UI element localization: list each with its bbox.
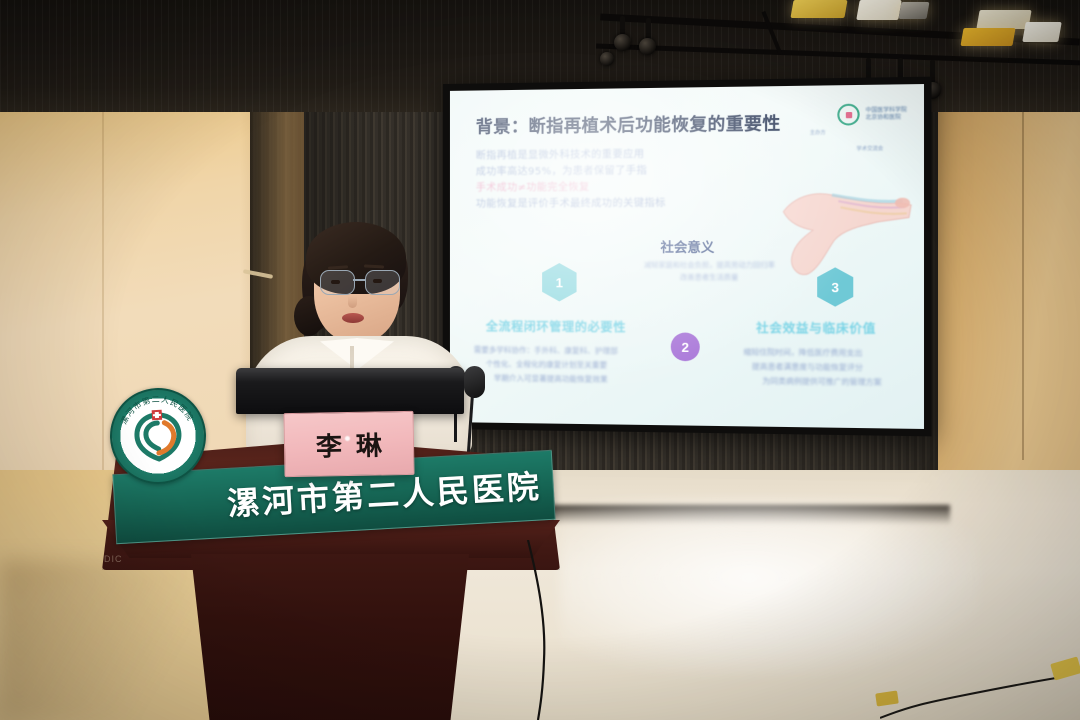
ceiling-panel-light-2 [856, 0, 902, 20]
ceiling-panel-light-5 [960, 28, 1015, 46]
list-item: 缩短住院时间，降低医疗费用支出 [744, 345, 918, 361]
slide-badge-1: 1 [542, 263, 576, 301]
projection-screen: 背景：断指再植术后功能恢复的重要性 断指再植是显微外科技术的重要应用 成功率高达… [450, 84, 924, 429]
slide-logo-icon [838, 104, 860, 126]
slide-left-column-heading: 全流程闭环管理的必要性 [486, 317, 626, 335]
badge-number: 2 [682, 339, 689, 354]
hand-diagram-svg [777, 153, 917, 278]
floor-cable [880, 650, 1080, 720]
ceiling-panel-light-3 [899, 2, 930, 19]
badge-number: 1 [556, 275, 563, 290]
ceiling-panel-light-4 [976, 10, 1031, 29]
hospital-logo: 漯河市第二人民医院 LUOHE SECOND PEOPLE'S HOSPITAL [108, 386, 209, 487]
podium: 漯河市第二人民医院 漯河市第二人民医院 LUOHE SECOND PEOPLE'… [96, 404, 566, 720]
projection-screen-frame: 背景：断指再植术后功能恢复的重要性 断指再植是显微外科技术的重要应用 成功率高达… [443, 77, 932, 437]
slide-section-heading: 社会意义 [660, 237, 714, 256]
list-item: 为同类病例提供可推广的管理方案 [744, 374, 918, 390]
slide-right-column-list: 缩短住院时间，降低医疗费用支出 提高患者满意度与功能恢复评分 为同类病例提供可推… [744, 345, 918, 390]
ceiling-spotlight-6 [600, 52, 614, 66]
name-card-name: 李琳 [302, 425, 397, 464]
slide-left-column-list: 需要多学科协作：手外科、康复科、护理部 个性化、全程化的康复计划至关重要 早期介… [474, 343, 667, 387]
laptop[interactable] [236, 368, 464, 414]
eye-right [373, 279, 382, 283]
ceiling-panel-light-6 [1022, 22, 1062, 42]
eye-left [331, 280, 340, 284]
floor-light-pool [560, 500, 980, 675]
badge-number: 3 [831, 279, 839, 295]
presentation-photo: 背景：断指再植术后功能恢复的重要性 断指再植是显微外科技术的重要应用 成功率高达… [0, 0, 1080, 720]
name-card-highlight [345, 436, 350, 441]
podium-body [172, 554, 488, 720]
slide-logo-text: 中国医学科学院 北京协和医院 [866, 107, 907, 122]
slide-logo-line1: 中国医学科学院 [866, 107, 907, 115]
ceiling-spotlight-2 [639, 38, 656, 55]
hand-illustration [777, 153, 917, 278]
microphone-primary [458, 366, 488, 462]
list-item: 早期介入可显著提高功能恢复效果 [474, 371, 667, 387]
lens-right [365, 270, 400, 295]
podium-brand-mark: DIC [104, 554, 123, 564]
mouth [342, 313, 364, 323]
presentation-slide: 背景：断指再植术后功能恢复的重要性 断指再植是显微外科技术的重要应用 成功率高达… [450, 84, 924, 429]
nose [348, 296, 357, 308]
hospital-logo-emblem [130, 408, 187, 465]
slide-right-column-heading: 社会效益与临床价值 [756, 319, 876, 337]
slide-logo-caption-right: 学术交流会 [856, 145, 883, 153]
slide-badge-2: 2 [671, 332, 700, 361]
ceiling-panel-light-1 [790, 0, 847, 18]
ceiling-spotlight-1 [614, 34, 631, 51]
glasses-bridge [353, 279, 365, 281]
podium-cable [520, 540, 560, 720]
slide-logo-caption-left: 主办方 [810, 129, 826, 136]
spot-arm-2 [646, 18, 651, 40]
slide-logo: 中国医学科学院 北京协和医院 [838, 103, 907, 126]
microphone-head [464, 366, 485, 398]
slide-logo-line2: 北京协和医院 [866, 114, 907, 122]
spot-arm-1 [620, 16, 625, 36]
name-card: 李琳 [283, 411, 414, 477]
